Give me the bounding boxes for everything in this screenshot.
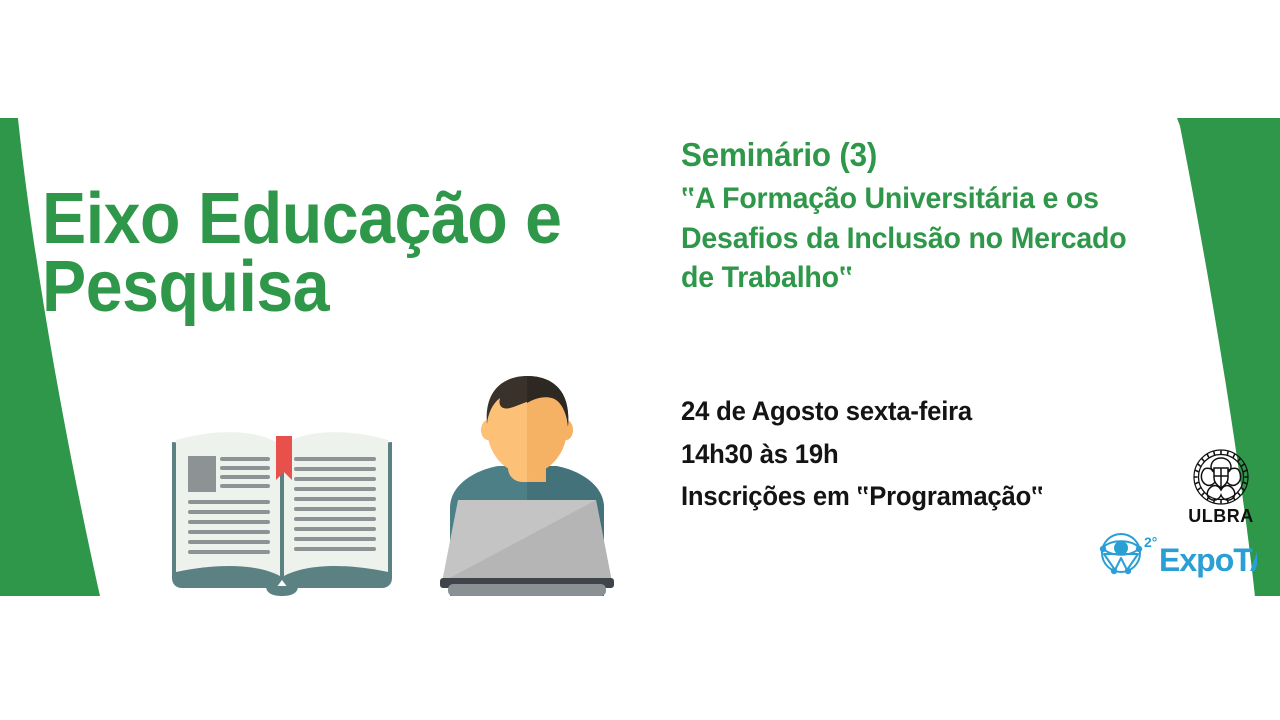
banner-canvas: Eixo Educação e Pesquisa [0, 0, 1280, 720]
book-tab [266, 586, 298, 596]
expotai-wordmark: ExpoTAI [1159, 542, 1257, 578]
expotai-eye-icon [1100, 534, 1142, 574]
book-image-block [188, 456, 216, 492]
seminar-label: Seminário (3) [681, 136, 1156, 175]
person-ear-right [559, 420, 573, 440]
seminar-block: Seminário (3) ‟A Formação Universitária … [681, 136, 1181, 298]
person-with-laptop-illustration [432, 372, 622, 596]
ulbra-wordmark: ULBRA [1188, 506, 1254, 526]
page-title: Eixo Educação e Pesquisa [42, 186, 594, 321]
book-page-right [284, 432, 388, 576]
book-page-left [176, 432, 280, 576]
expotai-ordinal: 2° [1144, 534, 1157, 550]
person-ear-left [481, 420, 495, 440]
seminar-title: ‟A Formação Universitária e os Desafios … [681, 179, 1156, 298]
open-book-illustration [158, 418, 406, 596]
ulbra-logo: ULBRA [1184, 448, 1258, 526]
laptop-base [448, 584, 606, 596]
expotai-logo: 2° ExpoTAI [1097, 528, 1257, 578]
ulbra-seal-icon [1194, 450, 1248, 504]
event-details: 24 de Agosto sexta-feira 14h30 às 19h In… [681, 390, 1118, 518]
